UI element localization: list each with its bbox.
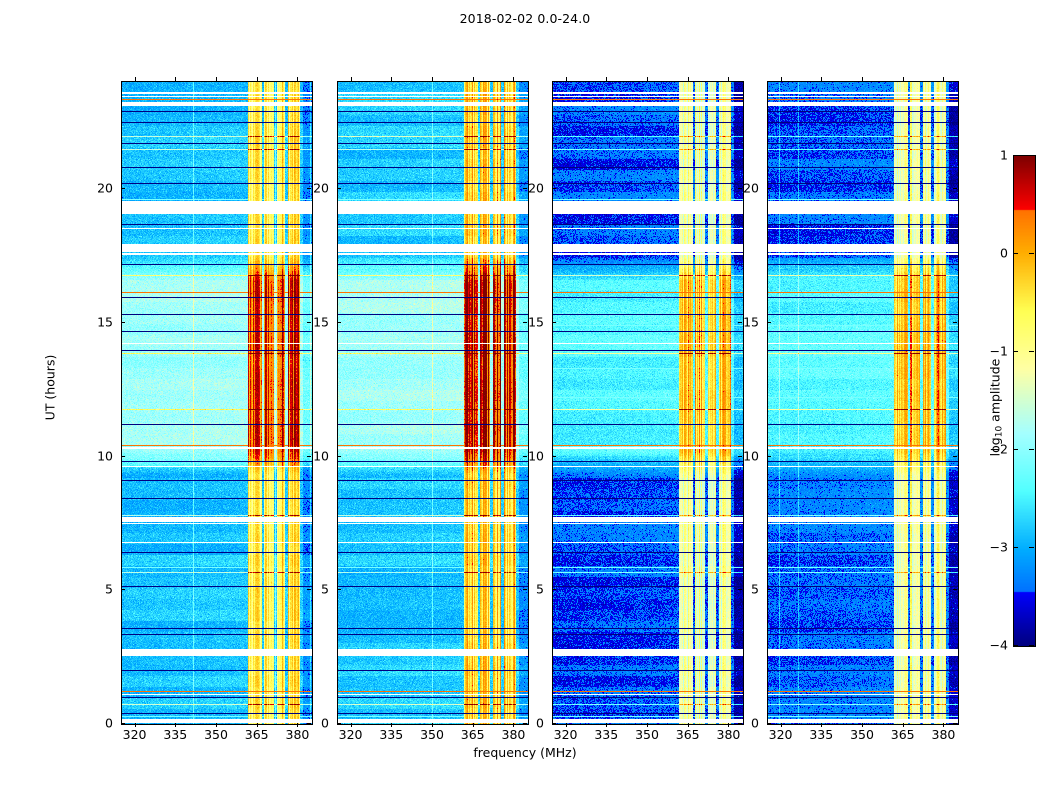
xtick-mark — [781, 723, 782, 727]
xtick-mark — [606, 77, 607, 81]
xtick-mark — [216, 723, 217, 727]
ytick-label: 15 — [504, 314, 544, 329]
ytick-label: 5 — [719, 582, 759, 597]
colorbar-tick-mark — [1029, 645, 1034, 646]
panel-xy[interactable]: XY, V5*V7=EA08*EA03 — [552, 81, 744, 725]
colorbar-gradient — [1014, 156, 1035, 646]
figure-suptitle: 2018-02-02 0.0-24.0 — [0, 11, 1050, 26]
xtick-label: 350 — [204, 727, 228, 742]
ytick-label: 0 — [289, 716, 329, 731]
xtick-mark — [391, 723, 392, 727]
xtick-mark — [903, 723, 904, 727]
heatmap-xx — [122, 82, 312, 724]
xtick-mark — [862, 77, 863, 81]
xtick-mark — [473, 723, 474, 727]
xtick-mark — [297, 77, 298, 81]
xtick-label: 350 — [635, 727, 659, 742]
ytick-mark — [767, 188, 771, 189]
ytick-mark — [121, 322, 125, 323]
xtick-mark — [943, 723, 944, 727]
xtick-mark — [473, 77, 474, 81]
ytick-mark — [121, 456, 125, 457]
colorbar-tick-mark — [1013, 253, 1018, 254]
xtick-mark — [688, 723, 689, 727]
xtick-label: 320 — [339, 727, 363, 742]
xtick-label: 350 — [850, 727, 874, 742]
xtick-mark — [566, 723, 567, 727]
xtick-label: 320 — [123, 727, 147, 742]
xtick-mark — [647, 77, 648, 81]
xtick-label: 365 — [245, 727, 269, 742]
xtick-mark — [432, 77, 433, 81]
colorbar-tick-label: −4 — [968, 638, 1008, 653]
ytick-mark — [337, 322, 341, 323]
colorbar-label-main: log — [988, 437, 1003, 456]
xtick-mark — [135, 77, 136, 81]
xtick-mark — [175, 723, 176, 727]
xtick-label: 380 — [931, 727, 955, 742]
ytick-mark — [552, 188, 556, 189]
ytick-mark — [767, 589, 771, 590]
xtick-mark — [216, 77, 217, 81]
ytick-mark — [552, 589, 556, 590]
ytick-label: 0 — [719, 716, 759, 731]
panel-xx[interactable]: XX, V5*V7=EA08*EA03 — [121, 81, 313, 725]
ytick-mark — [953, 188, 957, 189]
ytick-mark — [121, 723, 125, 724]
colorbar-tick-label: 1 — [968, 148, 1008, 163]
ytick-label: 0 — [73, 716, 113, 731]
ytick-label: 20 — [289, 181, 329, 196]
ytick-mark — [767, 322, 771, 323]
xtick-mark — [862, 723, 863, 727]
xtick-label: 335 — [809, 727, 833, 742]
ytick-label: 15 — [719, 314, 759, 329]
colorbar-tick-label: 0 — [968, 246, 1008, 261]
colorbar-label-subscript: 10 — [995, 426, 1005, 437]
xtick-label: 365 — [891, 727, 915, 742]
xtick-mark — [513, 77, 514, 81]
xtick-mark — [821, 723, 822, 727]
xtick-mark — [821, 77, 822, 81]
colorbar-tick-mark — [1029, 547, 1034, 548]
xtick-mark — [781, 77, 782, 81]
xtick-label: 350 — [420, 727, 444, 742]
figure-canvas: 2018-02-02 0.0-24.0 XX, V5*V7=EA08*EA03 … — [0, 0, 1050, 800]
heatmap-yx — [768, 82, 958, 724]
xtick-mark — [257, 723, 258, 727]
xtick-label: 365 — [461, 727, 485, 742]
ytick-mark — [121, 589, 125, 590]
xtick-label: 335 — [379, 727, 403, 742]
ytick-mark — [953, 322, 957, 323]
colorbar-label-tail: amplitude — [988, 359, 1003, 426]
ytick-mark — [767, 723, 771, 724]
ytick-mark — [337, 589, 341, 590]
xtick-label: 320 — [769, 727, 793, 742]
xtick-mark — [566, 77, 567, 81]
colorbar-tick-mark — [1029, 351, 1034, 352]
xtick-mark — [351, 77, 352, 81]
xtick-mark — [432, 723, 433, 727]
ytick-label: 5 — [73, 582, 113, 597]
xtick-mark — [351, 723, 352, 727]
xtick-mark — [728, 77, 729, 81]
ytick-mark — [953, 456, 957, 457]
xtick-mark — [647, 723, 648, 727]
xtick-mark — [257, 77, 258, 81]
colorbar-tick-mark — [1013, 645, 1018, 646]
colorbar-tick-mark — [1029, 449, 1034, 450]
ytick-mark — [337, 188, 341, 189]
ytick-mark — [767, 456, 771, 457]
xtick-label: 365 — [676, 727, 700, 742]
ytick-label: 15 — [73, 314, 113, 329]
xtick-mark — [175, 77, 176, 81]
xtick-mark — [943, 77, 944, 81]
ytick-label: 5 — [504, 582, 544, 597]
xtick-mark — [688, 77, 689, 81]
ytick-label: 20 — [504, 181, 544, 196]
ytick-mark — [953, 589, 957, 590]
ytick-label: 0 — [504, 716, 544, 731]
ytick-label: 20 — [73, 181, 113, 196]
colorbar-tick-mark — [1013, 449, 1018, 450]
ytick-mark — [337, 723, 341, 724]
ytick-label: 10 — [73, 448, 113, 463]
colorbar-tick-label: −3 — [968, 540, 1008, 555]
ytick-mark — [552, 322, 556, 323]
heatmap-xy — [553, 82, 743, 724]
ytick-mark — [552, 723, 556, 724]
colorbar-label: log10 amplitude — [988, 308, 1003, 508]
ytick-mark — [337, 456, 341, 457]
x-axis-label: frequency (MHz) — [0, 745, 1050, 760]
colorbar-tick-mark — [1029, 155, 1034, 156]
y-axis-label: UT (hours) — [43, 298, 58, 478]
xtick-mark — [606, 723, 607, 727]
ytick-label: 10 — [719, 448, 759, 463]
xtick-mark — [903, 77, 904, 81]
xtick-label: 335 — [163, 727, 187, 742]
colorbar-tick-mark — [1013, 155, 1018, 156]
ytick-label: 15 — [289, 314, 329, 329]
xtick-mark — [391, 77, 392, 81]
ytick-label: 10 — [289, 448, 329, 463]
colorbar-tick-mark — [1013, 547, 1018, 548]
ytick-mark — [121, 188, 125, 189]
panel-yx[interactable]: YX, V5*V7=EA08*EA03 — [767, 81, 959, 725]
xtick-mark — [135, 723, 136, 727]
colorbar-tick-mark — [1013, 351, 1018, 352]
ytick-label: 20 — [719, 181, 759, 196]
ytick-label: 5 — [289, 582, 329, 597]
ytick-mark — [552, 456, 556, 457]
colorbar[interactable] — [1013, 155, 1036, 647]
panel-yy[interactable]: YY, V5*V7=EA08*EA03 — [337, 81, 529, 725]
ytick-mark — [953, 723, 957, 724]
xtick-label: 335 — [594, 727, 618, 742]
ytick-label: 10 — [504, 448, 544, 463]
xtick-label: 320 — [554, 727, 578, 742]
heatmap-yy — [338, 82, 528, 724]
colorbar-tick-mark — [1029, 253, 1034, 254]
